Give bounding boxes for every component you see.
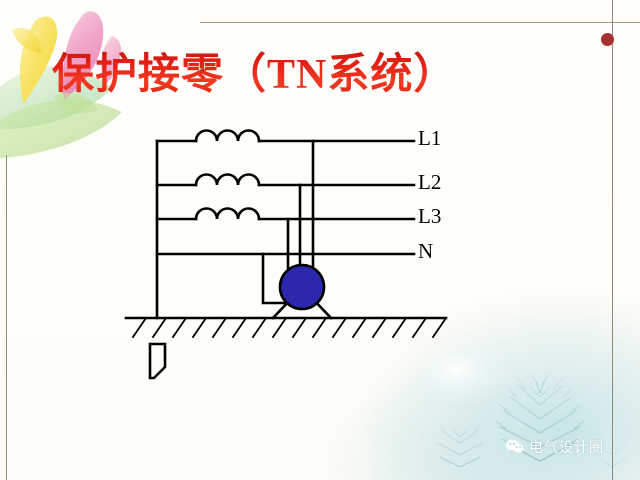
- inductor-coil-icon: [196, 175, 259, 186]
- wechat-icon: [505, 439, 524, 455]
- phase-label-l3: L3: [418, 206, 441, 227]
- earth-hatching-icon: [133, 318, 446, 337]
- watermark: 电气设计圈: [505, 437, 604, 457]
- phase-label-n: N: [418, 241, 433, 262]
- earthing-rod-icon: [150, 344, 165, 378]
- tn-system-diagram: [0, 0, 640, 480]
- phase-label-l2: L2: [418, 172, 441, 193]
- slide-canvas: 保护接零（TN系统）: [0, 0, 640, 480]
- watermark-label: 电气设计圈: [529, 437, 604, 457]
- phase-label-l1: L1: [418, 128, 441, 149]
- inductor-coil-icon: [196, 131, 259, 142]
- inductor-coil-icon: [196, 209, 259, 220]
- load-appliance-icon: [280, 265, 324, 309]
